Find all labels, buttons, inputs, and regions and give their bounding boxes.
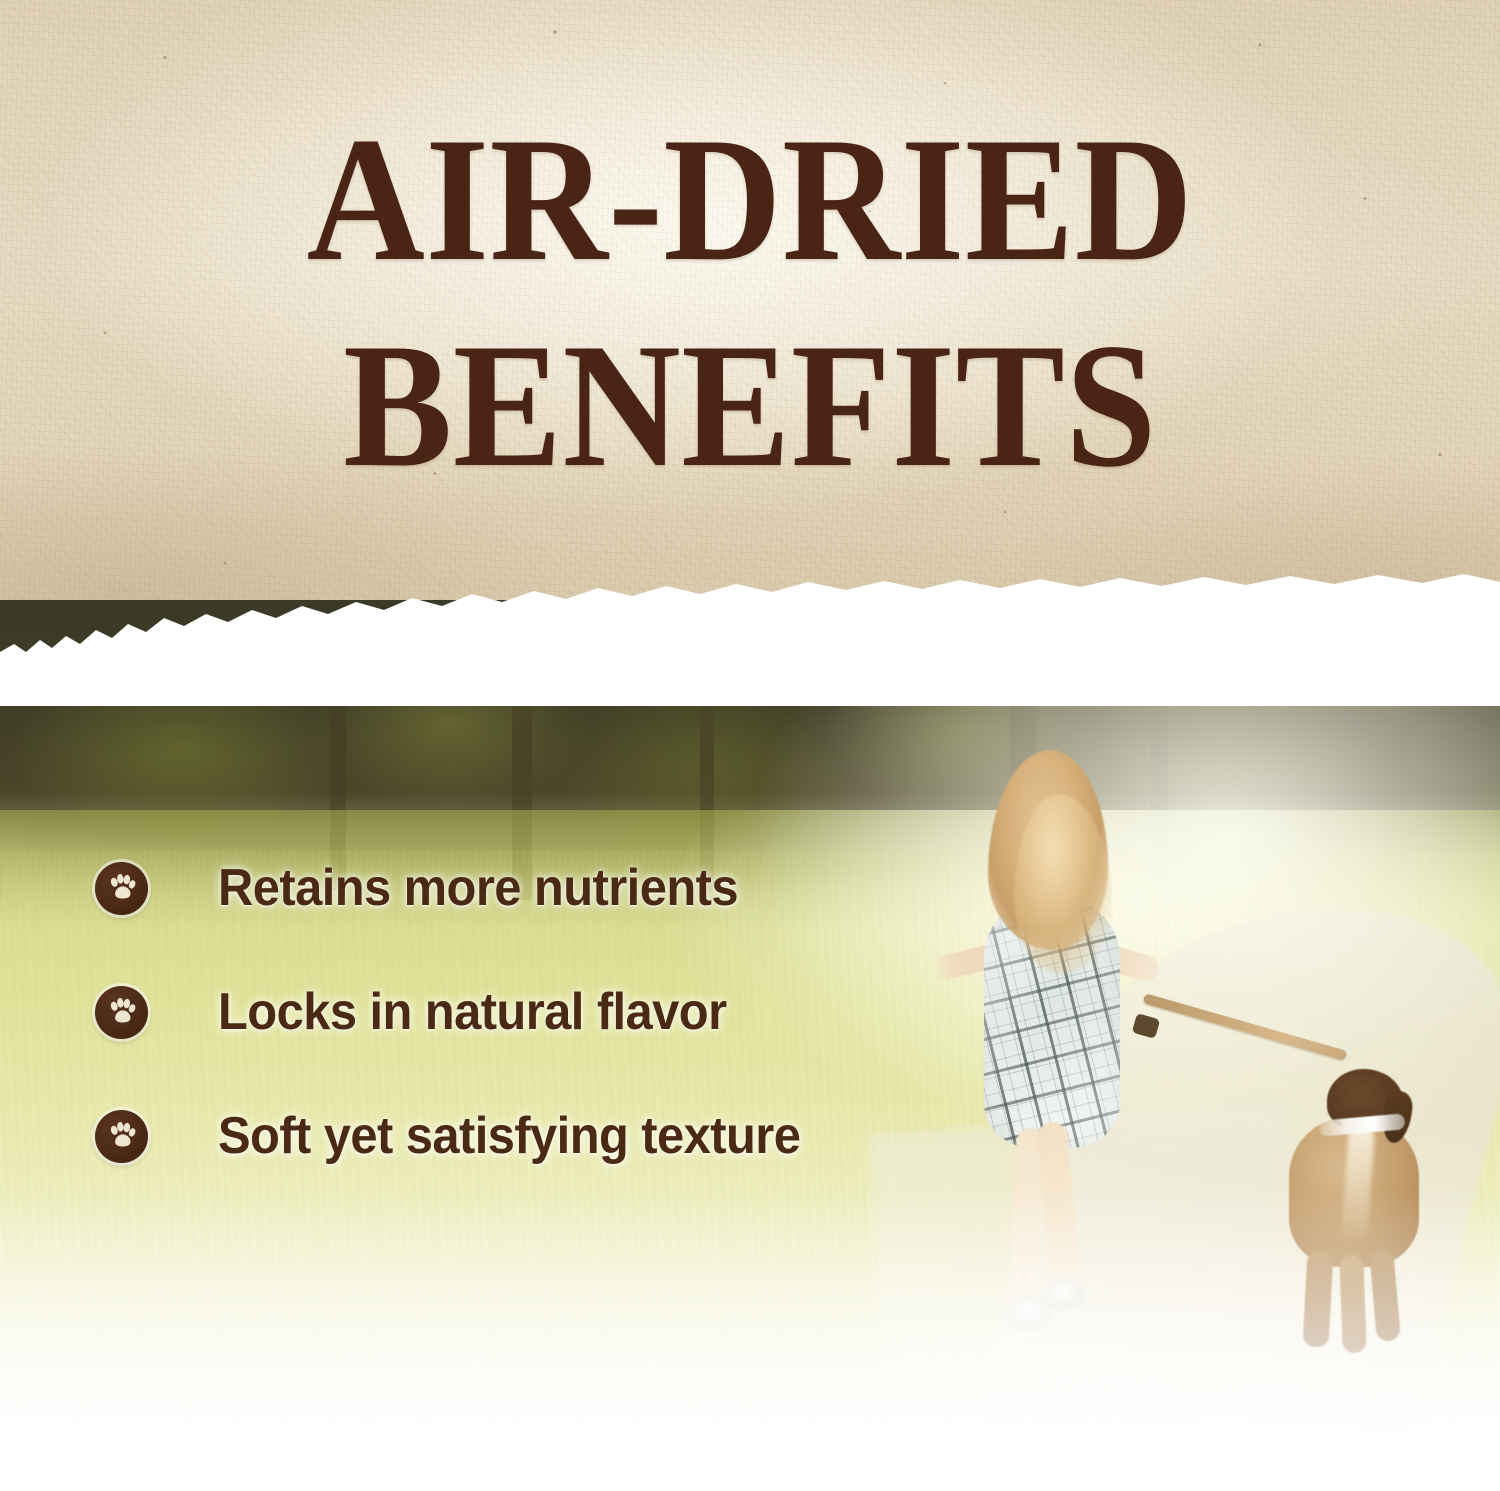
list-item: Locks in natural flavor — [95, 976, 1075, 1048]
list-item-label: Soft yet satisfying texture — [218, 1110, 800, 1162]
benefits-list: Retains more nutrients Locks in natural … — [95, 852, 1075, 1224]
page-title: AIR-DRIED BENEFITS — [0, 118, 1500, 488]
dog-on-leash — [1275, 1055, 1455, 1375]
paw-print-icon — [95, 862, 148, 915]
dog-leg — [1303, 1250, 1334, 1347]
dog-leg — [1339, 1255, 1366, 1354]
paw-print-icon — [95, 1110, 148, 1163]
list-item-label: Locks in natural flavor — [218, 986, 727, 1038]
headline-line-2: BENEFITS — [60, 324, 1440, 488]
headline-line-1: AIR-DRIED — [60, 118, 1440, 282]
list-item-label: Retains more nutrients — [218, 862, 738, 914]
list-item: Retains more nutrients — [95, 852, 1075, 924]
paw-print-icon — [95, 986, 148, 1039]
list-item: Soft yet satisfying texture — [95, 1100, 1075, 1172]
air-dried-benefits-graphic: AIR-DRIED BENEFITS — [0, 0, 1500, 1491]
left-shoe — [1006, 1296, 1052, 1332]
dog-leg — [1369, 1248, 1401, 1342]
